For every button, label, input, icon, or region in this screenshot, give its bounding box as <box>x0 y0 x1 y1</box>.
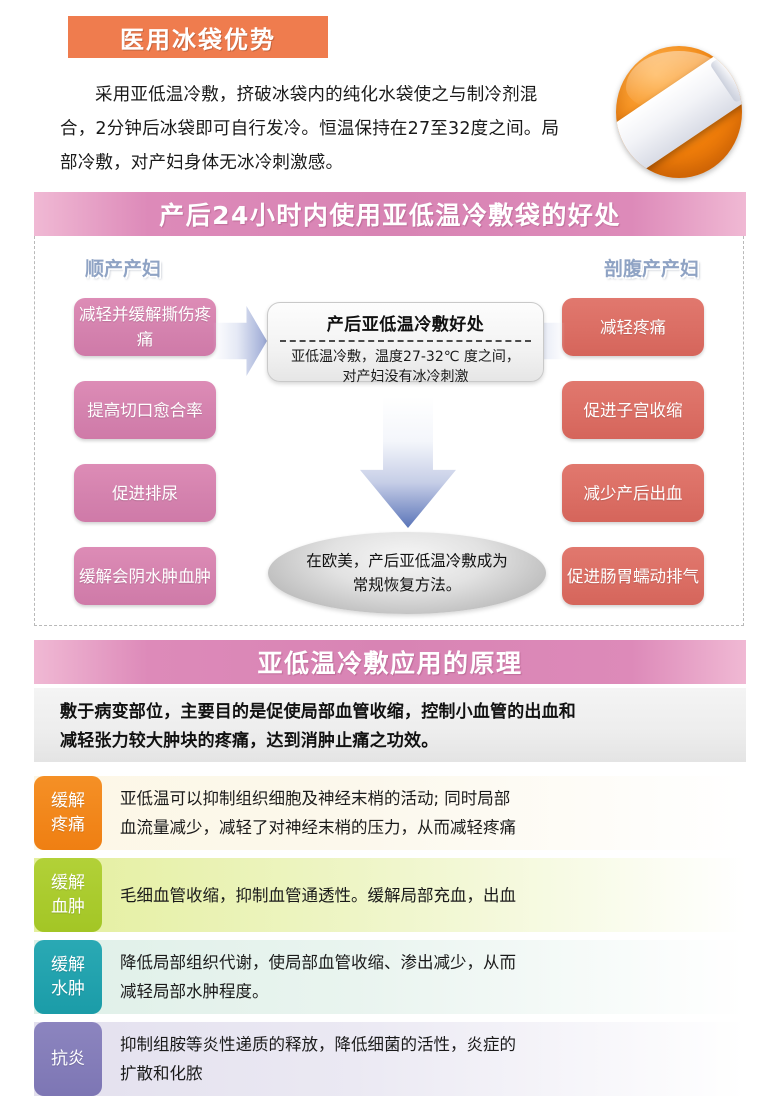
center-card-title: 产后亚低温冷敷好处 <box>278 310 533 335</box>
benefits-diagram: 顺产产妇 剖腹产产妇 减轻并缓解撕伤疼痛 提高切口愈合率 促进排尿 缓解会阴水肿… <box>34 236 744 626</box>
principle-tag-edema-line1: 缓解 <box>51 953 85 977</box>
principle-text-pain-line1: 亚低温可以抑制组织细胞及神经末梢的活动; 同时局部 <box>120 784 516 813</box>
center-card-body-line1: 亚低温冷敷，温度27-32℃ 度之间， <box>278 347 533 367</box>
arrow-right-pointing-icon <box>213 306 267 376</box>
conclusion-line2: 常规恢复方法。 <box>306 573 508 597</box>
principle-tag-hematoma-line2: 血肿 <box>51 895 85 919</box>
intro-paragraph: 采用亚低温冷敷，挤破冰袋内的纯化水袋使之与制冷剂混合，2分钟后冰袋即可自行发冷。… <box>60 78 570 180</box>
principle-text-pain-line2: 血流量减少，减轻了对神经末梢的压力，从而减轻疼痛 <box>120 813 516 842</box>
infographic-page: 医用冰袋优势 采用亚低温冷敷，挤破冰袋内的纯化水袋使之与制冷剂混合，2分钟后冰袋… <box>0 0 780 1113</box>
section-badge-advantages: 医用冰袋优势 <box>68 16 328 58</box>
principle-tag-hematoma-line1: 缓解 <box>51 871 85 895</box>
principle-tag-edema-line2: 水肿 <box>51 977 85 1001</box>
column-label-cesarean-birth: 剖腹产产妇 <box>604 254 699 281</box>
benefit-right-1: 减轻疼痛 <box>562 298 704 356</box>
benefit-right-2: 促进子宫收缩 <box>562 381 704 439</box>
section-bar-benefits: 产后24小时内使用亚低温冷敷袋的好处 <box>34 192 746 236</box>
principle-text-hematoma: 毛细血管收缩，抑制血管通透性。缓解局部充血，出血 <box>102 858 746 932</box>
principle-row-edema: 缓解 水肿 降低局部组织代谢，使局部血管收缩、渗出减少，从而 减轻局部水肿程度。 <box>34 940 746 1014</box>
badge-label: 医用冰袋优势 <box>120 20 276 55</box>
benefit-left-1: 减轻并缓解撕伤疼痛 <box>74 298 216 356</box>
principle-text-antiinflammatory-line2: 扩散和化脓 <box>120 1059 516 1088</box>
principle-text-antiinflammatory: 抑制组胺等炎性递质的释放，降低细菌的活性，炎症的 扩散和化脓 <box>102 1022 746 1096</box>
principle-bar: 亚低温冷敷应用的原理 <box>34 640 746 684</box>
intro-text: 采用亚低温冷敷，挤破冰袋内的纯化水袋使之与制冷剂混合，2分钟后冰袋即可自行发冷。… <box>60 78 570 180</box>
principle-lead-paragraph: 敷于病变部位，主要目的是促使局部血管收缩，控制小血管的出血和 减轻张力较大肿块的… <box>34 688 746 762</box>
conclusion-line1: 在欧美，产后亚低温冷敷成为 <box>306 549 508 573</box>
principle-row-pain: 缓解 疼痛 亚低温可以抑制组织细胞及神经末梢的活动; 同时局部 血流量减少，减轻… <box>34 776 746 850</box>
arrow-down-icon <box>360 396 456 528</box>
principle-bar-title: 亚低温冷敷应用的原理 <box>257 644 522 680</box>
principle-text-edema: 降低局部组织代谢，使局部血管收缩、渗出减少，从而 减轻局部水肿程度。 <box>102 940 746 1014</box>
center-card-body: 亚低温冷敷，温度27-32℃ 度之间， 对产妇没有冰冷刺激 <box>278 347 533 387</box>
benefit-right-3: 减少产后出血 <box>562 464 704 522</box>
principle-lead-line1: 敷于病变部位，主要目的是促使局部血管收缩，控制小血管的出血和 <box>60 698 720 727</box>
principle-text-antiinflammatory-line1: 抑制组胺等炎性递质的释放，降低细菌的活性，炎症的 <box>120 1030 516 1059</box>
benefit-left-4: 缓解会阴水肿血肿 <box>74 547 216 605</box>
principle-tag-edema: 缓解 水肿 <box>34 940 102 1014</box>
product-photo-icepack <box>616 46 742 178</box>
center-card-divider <box>280 340 531 342</box>
section-bar-principle: 亚低温冷敷应用的原理 <box>34 640 746 684</box>
benefit-right-4: 促进肠胃蠕动排气 <box>562 547 704 605</box>
benefit-left-3: 促进排尿 <box>74 464 216 522</box>
principle-text-pain: 亚低温可以抑制组织细胞及神经末梢的活动; 同时局部 血流量减少，减轻了对神经末梢… <box>102 776 746 850</box>
principle-text-hematoma-line1: 毛细血管收缩，抑制血管通透性。缓解局部充血，出血 <box>120 881 516 910</box>
column-label-vaginal-birth: 顺产产妇 <box>85 254 161 281</box>
principle-text-edema-line2: 减轻局部水肿程度。 <box>120 977 516 1006</box>
conclusion-ellipse: 在欧美，产后亚低温冷敷成为 常规恢复方法。 <box>268 532 546 614</box>
benefits-bar: 产后24小时内使用亚低温冷敷袋的好处 <box>34 192 746 236</box>
principle-text-edema-line1: 降低局部组织代谢，使局部血管收缩、渗出减少，从而 <box>120 948 516 977</box>
principle-tag-antiinflammatory: 抗炎 <box>34 1022 102 1096</box>
principle-tag-pain: 缓解 疼痛 <box>34 776 102 850</box>
center-card-body-line2: 对产妇没有冰冷刺激 <box>278 367 533 387</box>
principle-row-antiinflammatory: 抗炎 抑制组胺等炎性递质的释放，降低细菌的活性，炎症的 扩散和化脓 <box>34 1022 746 1096</box>
principle-tag-pain-line1: 缓解 <box>51 789 85 813</box>
principle-tag-hematoma: 缓解 血肿 <box>34 858 102 932</box>
center-summary-card: 产后亚低温冷敷好处 亚低温冷敷，温度27-32℃ 度之间， 对产妇没有冰冷刺激 <box>267 302 544 382</box>
benefit-left-2: 提高切口愈合率 <box>74 381 216 439</box>
principle-tag-pain-line2: 疼痛 <box>51 813 85 837</box>
principle-lead-line2: 减轻张力较大肿块的疼痛，达到消肿止痛之功效。 <box>60 727 720 756</box>
principle-tag-antiinflammatory-line1: 抗炎 <box>51 1047 85 1071</box>
principle-row-hematoma: 缓解 血肿 毛细血管收缩，抑制血管通透性。缓解局部充血，出血 <box>34 858 746 932</box>
benefits-bar-title: 产后24小时内使用亚低温冷敷袋的好处 <box>159 196 621 232</box>
